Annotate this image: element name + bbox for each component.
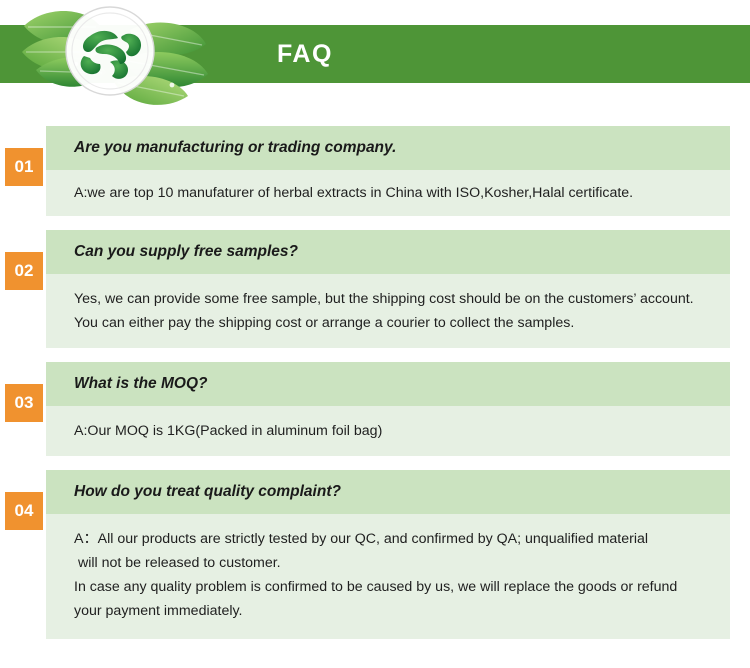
faq-item: 03 What is the MOQ? A:Our MOQ is 1KG(Pac… [0, 362, 750, 456]
faq-question-text: How do you treat quality complaint? [74, 483, 341, 501]
faq-body: Can you supply free samples? Yes, we can… [46, 230, 730, 348]
faq-answer-text: Yes, we can provide some free sample, bu… [74, 287, 708, 335]
faq-item: 01 Are you manufacturing or trading comp… [0, 126, 750, 216]
faq-answer: A:we are top 10 manufaturer of herbal ex… [46, 170, 730, 216]
faq-answer: A：All our products are strictly tested b… [46, 514, 730, 639]
faq-body: What is the MOQ? A:Our MOQ is 1KG(Packed… [46, 362, 730, 456]
faq-question: What is the MOQ? [46, 362, 730, 406]
faq-question-text: What is the MOQ? [74, 375, 207, 393]
faq-item: 04 How do you treat quality complaint? A… [0, 470, 750, 639]
faq-number-badge: 04 [5, 492, 43, 530]
faq-list: 01 Are you manufacturing or trading comp… [0, 126, 750, 639]
faq-body: Are you manufacturing or trading company… [46, 126, 730, 216]
faq-number-badge: 02 [5, 252, 43, 290]
faq-question: Can you supply free samples? [46, 230, 730, 274]
faq-answer-text: A:Our MOQ is 1KG(Packed in aluminum foil… [74, 419, 708, 443]
faq-answer: A:Our MOQ is 1KG(Packed in aluminum foil… [46, 406, 730, 456]
faq-item: 02 Can you supply free samples? Yes, we … [0, 230, 750, 348]
faq-question: Are you manufacturing or trading company… [46, 126, 730, 170]
faq-question: How do you treat quality complaint? [46, 470, 730, 514]
faq-number-badge: 03 [5, 384, 43, 422]
faq-answer-text: A：All our products are strictly tested b… [74, 527, 708, 623]
faq-answer: Yes, we can provide some free sample, bu… [46, 274, 730, 348]
page-title: FAQ [277, 39, 333, 69]
page-header: FAQ [0, 0, 750, 118]
faq-page: FAQ 01 Are you manufacturing or trading … [0, 0, 750, 668]
company-leaf-logo [18, 0, 218, 112]
faq-question-text: Are you manufacturing or trading company… [74, 139, 396, 157]
faq-body: How do you treat quality complaint? A：Al… [46, 470, 730, 639]
faq-question-text: Can you supply free samples? [74, 243, 298, 261]
faq-number-badge: 01 [5, 148, 43, 186]
faq-answer-text: A:we are top 10 manufaturer of herbal ex… [74, 181, 708, 205]
